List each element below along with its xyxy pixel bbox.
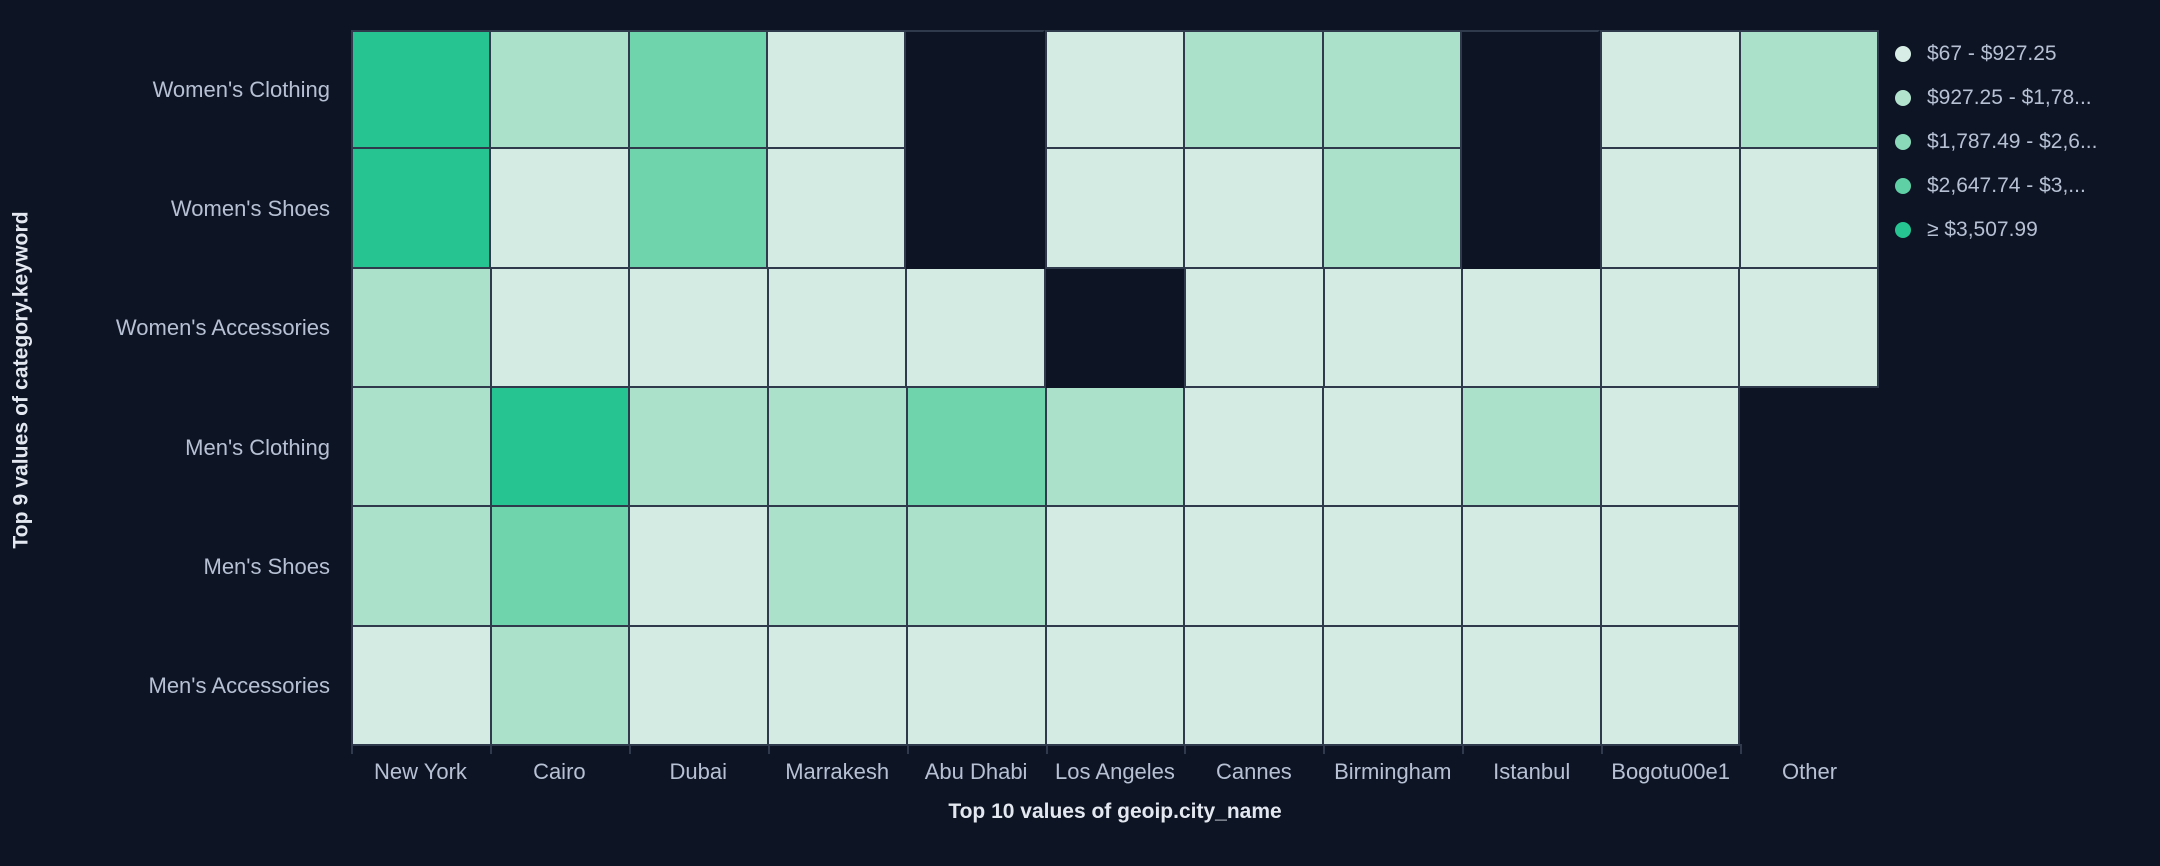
heatmap-cell[interactable] <box>1185 627 1324 746</box>
heatmap-row <box>351 30 1879 149</box>
heatmap-cell[interactable] <box>351 627 492 746</box>
heatmap-cell[interactable] <box>1602 627 1741 746</box>
heatmap-cell[interactable] <box>906 149 1044 268</box>
x-axis-tick-label: Cairo <box>490 752 629 792</box>
heatmap-cell[interactable] <box>1324 507 1463 626</box>
heatmap-cell[interactable] <box>1740 388 1879 507</box>
x-axis-tick-label: Marrakesh <box>768 752 907 792</box>
legend-item-label: ≥ $3,507.99 <box>1927 218 2038 242</box>
heatmap-cell[interactable] <box>492 627 631 746</box>
heatmap-row <box>351 388 1879 507</box>
heatmap-row <box>351 507 1879 626</box>
heatmap-cell[interactable] <box>492 388 631 507</box>
heatmap-cell[interactable] <box>1185 30 1323 149</box>
legend[interactable]: $67 - $927.25$927.25 - $1,78...$1,787.49… <box>1895 32 2145 252</box>
legend-swatch-dot-icon <box>1895 178 1911 194</box>
heatmap-cell[interactable] <box>351 269 492 388</box>
heatmap-cell[interactable] <box>1740 507 1879 626</box>
heatmap-cell[interactable] <box>1463 388 1602 507</box>
y-axis-tick-label: Women's Shoes <box>44 149 344 268</box>
heatmap-cell[interactable] <box>1602 507 1741 626</box>
legend-item-label: $1,787.49 - $2,6... <box>1927 130 2097 154</box>
heatmap-row <box>351 627 1879 746</box>
heatmap-cell[interactable] <box>351 30 491 149</box>
x-axis-tick-labels: New YorkCairoDubaiMarrakeshAbu DhabiLos … <box>351 752 1879 792</box>
x-axis-tick-label: Abu Dhabi <box>907 752 1046 792</box>
legend-swatch-dot-icon <box>1895 222 1911 238</box>
heatmap-cell[interactable] <box>1046 269 1185 388</box>
y-axis-tick-label: Women's Clothing <box>44 30 344 149</box>
heatmap-cell[interactable] <box>1600 149 1740 268</box>
heatmap-cell[interactable] <box>1185 507 1324 626</box>
heatmap-cell[interactable] <box>351 149 491 268</box>
heatmap-row <box>351 149 1879 268</box>
heatmap-cell[interactable] <box>1324 149 1462 268</box>
heatmap-cell[interactable] <box>1462 149 1600 268</box>
heatmap-cell[interactable] <box>1463 507 1602 626</box>
heatmap-cell[interactable] <box>1324 30 1462 149</box>
heatmap-cell[interactable] <box>769 269 908 388</box>
y-axis-tick-labels: Women's ClothingWomen's ShoesWomen's Acc… <box>44 30 344 746</box>
heatmap-cell[interactable] <box>1047 507 1186 626</box>
legend-swatch-dot-icon <box>1895 90 1911 106</box>
heatmap-cell[interactable] <box>630 30 768 149</box>
heatmap-cell[interactable] <box>768 149 906 268</box>
x-axis-tick-label: Istanbul <box>1462 752 1601 792</box>
legend-swatch-dot-icon <box>1895 134 1911 150</box>
heatmap-cell[interactable] <box>491 149 629 268</box>
heatmap-cell[interactable] <box>1741 30 1879 149</box>
legend-item[interactable]: $67 - $927.25 <box>1895 32 2145 76</box>
x-axis-tick-label: Cannes <box>1184 752 1323 792</box>
heatmap-cell[interactable] <box>768 30 906 149</box>
heatmap-cell[interactable] <box>1324 388 1463 507</box>
heatmap-cell[interactable] <box>1463 269 1602 388</box>
heatmap-visualization: Top 9 values of category.keyword Women's… <box>0 0 2160 866</box>
heatmap-cell[interactable] <box>769 507 908 626</box>
y-axis-tick-label: Men's Accessories <box>44 627 344 746</box>
heatmap-cell[interactable] <box>491 30 629 149</box>
heatmap-cell[interactable] <box>1184 269 1325 388</box>
heatmap-cell[interactable] <box>630 627 769 746</box>
heatmap-cell[interactable] <box>769 627 908 746</box>
heatmap-cell[interactable] <box>1462 30 1600 149</box>
heatmap-cell[interactable] <box>630 388 769 507</box>
heatmap-cell[interactable] <box>630 149 768 268</box>
heatmap-cell[interactable] <box>492 507 631 626</box>
heatmap-cell[interactable] <box>1602 388 1741 507</box>
heatmap-cell[interactable] <box>908 627 1047 746</box>
heatmap-cell[interactable] <box>1325 269 1464 388</box>
y-axis-title-text: Top 9 values of category.keyword <box>10 211 34 548</box>
heatmap-cell[interactable] <box>630 507 769 626</box>
heatmap-cell[interactable] <box>351 507 492 626</box>
heatmap-cell[interactable] <box>1185 388 1324 507</box>
y-axis-tick-label: Men's Shoes <box>44 507 344 626</box>
heatmap-cell[interactable] <box>492 269 631 388</box>
x-axis-title: Top 10 values of geoip.city_name <box>351 800 1879 824</box>
legend-item[interactable]: $927.25 - $1,78... <box>1895 76 2145 120</box>
x-axis-tick-label: Dubai <box>629 752 768 792</box>
heatmap-cell[interactable] <box>906 30 1044 149</box>
legend-item[interactable]: $2,647.74 - $3,... <box>1895 164 2145 208</box>
legend-item-label: $2,647.74 - $3,... <box>1927 174 2086 198</box>
heatmap-cell[interactable] <box>769 388 908 507</box>
heatmap-row <box>351 269 1879 388</box>
heatmap-cell[interactable] <box>908 388 1047 507</box>
heatmap-cell[interactable] <box>1324 627 1463 746</box>
heatmap-cell[interactable] <box>1185 149 1323 268</box>
legend-item-label: $927.25 - $1,78... <box>1927 86 2092 110</box>
legend-item[interactable]: $1,787.49 - $2,6... <box>1895 120 2145 164</box>
heatmap-cell[interactable] <box>1045 149 1185 268</box>
heatmap-cell[interactable] <box>1047 627 1186 746</box>
y-axis-tick-label: Women's Accessories <box>44 269 344 388</box>
heatmap-cell[interactable] <box>1047 388 1186 507</box>
x-axis-tick-label: Bogotu00e1 <box>1601 752 1740 792</box>
x-axis-tick-label: Los Angeles <box>1046 752 1185 792</box>
legend-item-label: $67 - $927.25 <box>1927 42 2057 66</box>
heatmap-cell[interactable] <box>1740 269 1879 388</box>
heatmap-cell[interactable] <box>1045 30 1185 149</box>
heatmap-cell[interactable] <box>908 507 1047 626</box>
heatmap-cell[interactable] <box>1602 269 1741 388</box>
heatmap-cell[interactable] <box>351 388 492 507</box>
heatmap-cell[interactable] <box>1741 149 1879 268</box>
x-axis-tick-label: Other <box>1740 752 1879 792</box>
legend-swatch-dot-icon <box>1895 46 1911 62</box>
x-axis-tick-label: New York <box>351 752 490 792</box>
heatmap-cell[interactable] <box>630 269 769 388</box>
y-axis-title: Top 9 values of category.keyword <box>0 0 44 760</box>
heatmap-cell[interactable] <box>907 269 1046 388</box>
y-axis-tick-label: Men's Clothing <box>44 388 344 507</box>
legend-item[interactable]: ≥ $3,507.99 <box>1895 208 2145 252</box>
heatmap-cell[interactable] <box>1463 627 1602 746</box>
x-axis-tick-label: Birmingham <box>1323 752 1462 792</box>
heatmap-grid[interactable] <box>351 30 1879 746</box>
heatmap-cell[interactable] <box>1740 627 1879 746</box>
heatmap-cell[interactable] <box>1600 30 1740 149</box>
